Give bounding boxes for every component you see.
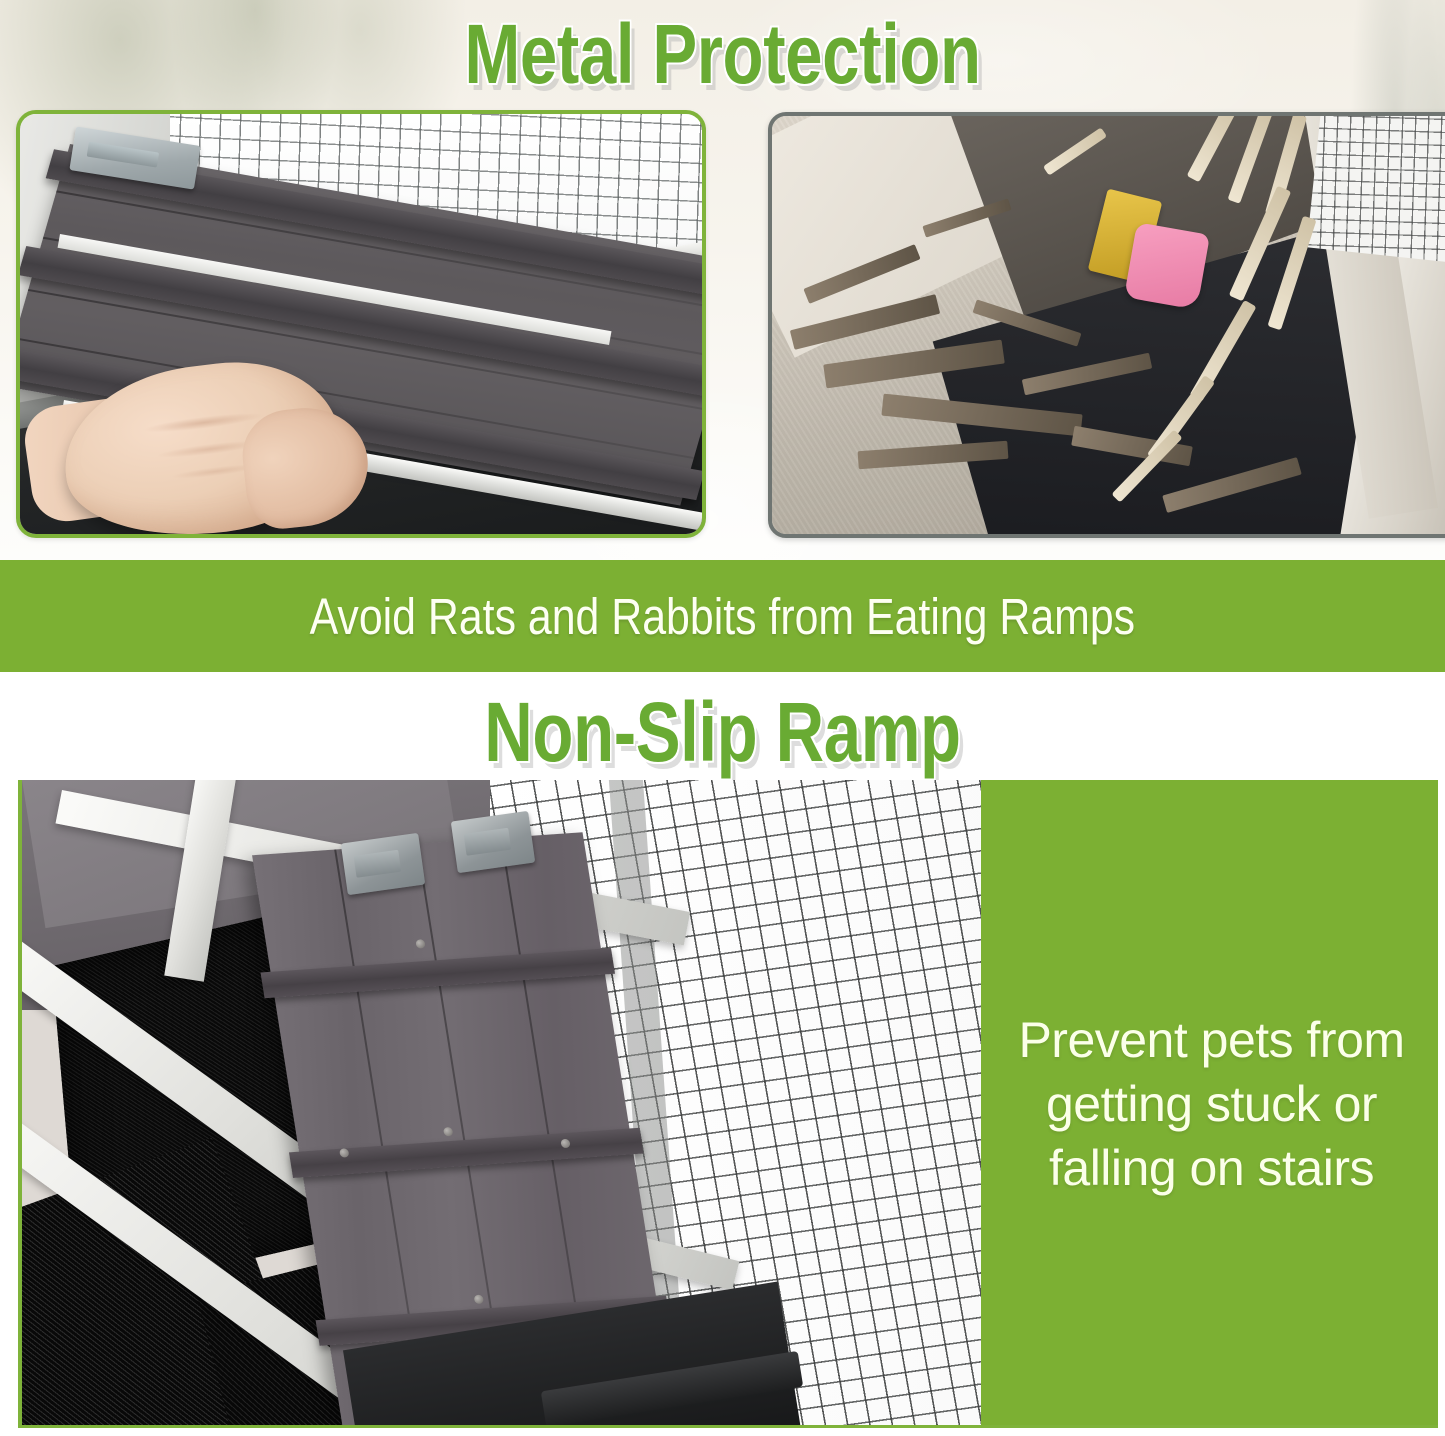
bottom-section: Prevent pets from getting stuck or falli…	[18, 780, 1438, 1428]
fingers	[238, 402, 374, 532]
photo-metal-edge-ramp	[16, 110, 706, 538]
banner-caption-text: Avoid Rats and Rabbits from Eating Ramps	[310, 587, 1135, 646]
heading-non-slip-ramp: Non-Slip Ramp	[145, 684, 1301, 780]
green-caption-banner: Avoid Rats and Rabbits from Eating Ramps	[0, 560, 1445, 672]
pink-debris-object	[1124, 222, 1210, 310]
photo-scene	[20, 114, 702, 534]
callout-text: Prevent pets from getting stuck or falli…	[981, 1008, 1438, 1200]
heading-metal-protection: Metal Protection	[145, 6, 1301, 102]
wire-mesh-corner	[1307, 112, 1445, 264]
ramp-hinge-left	[341, 833, 425, 895]
photo-chewed-wood-damage	[768, 112, 1445, 538]
photo-rabbit-on-ramp	[22, 780, 981, 1425]
human-hand	[38, 350, 368, 534]
green-callout-panel: Prevent pets from getting stuck or falli…	[981, 780, 1438, 1428]
ramp-hinge-right	[451, 811, 535, 873]
infographic-page: Metal Protection	[0, 0, 1445, 1436]
